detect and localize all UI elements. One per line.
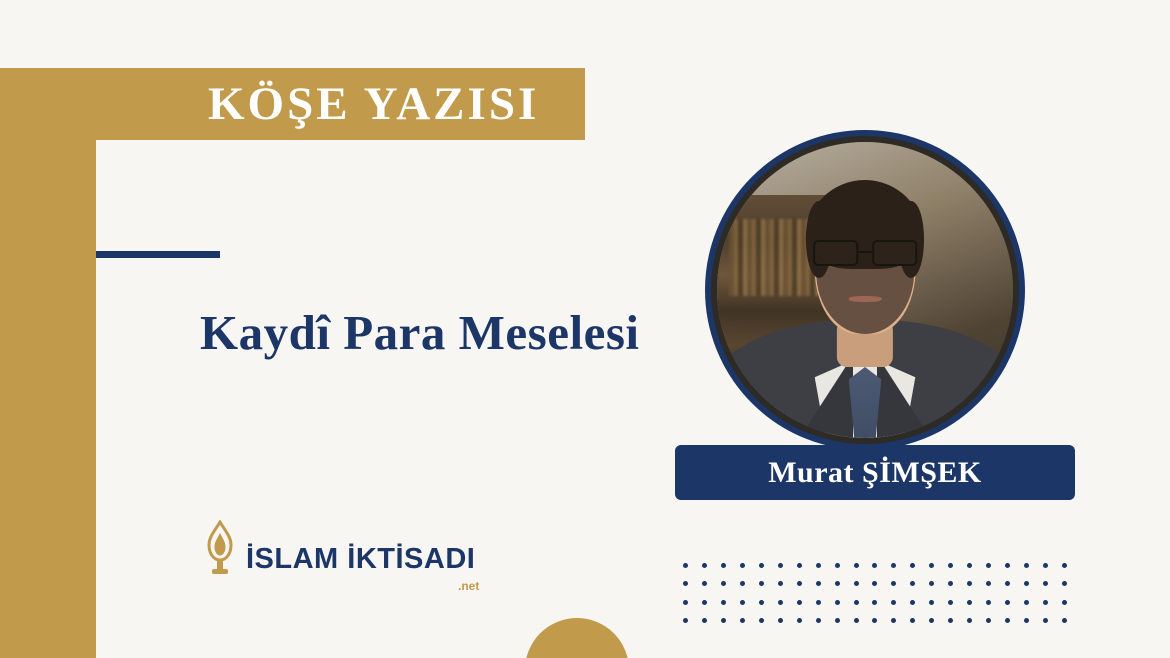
dot [721,563,726,568]
author-name: Murat ŞİMŞEK [768,456,982,490]
dot [797,581,802,586]
dot [778,581,783,586]
gold-band-notch [0,0,96,68]
dot [740,581,745,586]
dot [835,581,840,586]
dot [797,618,802,623]
dot [854,563,859,568]
dot [797,600,802,605]
logo-wordmark-wrap: İSLAM İKTİSADI .net [246,545,475,576]
dot [948,581,953,586]
dot [740,618,745,623]
dot [910,563,915,568]
dot [1062,581,1067,586]
dot-grid-decor [676,556,1074,630]
dot [854,600,859,605]
dot [929,600,934,605]
flame-lamp-icon [200,520,240,576]
dot [986,563,991,568]
dot [1024,600,1029,605]
author-avatar [705,130,1025,450]
author-photo [717,142,1013,438]
dot [778,563,783,568]
dot [683,563,688,568]
dot [929,581,934,586]
page-title: Kaydî Para Meselesi [200,300,640,366]
photo-glasses-bridge [858,251,873,254]
dot [891,581,896,586]
dot [967,600,972,605]
dot [702,618,707,623]
dot [1062,618,1067,623]
dot [835,618,840,623]
dot [967,618,972,623]
dot [683,600,688,605]
dot [702,563,707,568]
dot [910,600,915,605]
dot [721,618,726,623]
dot [1043,618,1048,623]
dot [872,618,877,623]
dot [948,600,953,605]
dot [759,618,764,623]
dot [835,563,840,568]
dot [816,600,821,605]
dot [702,600,707,605]
dot [683,618,688,623]
dot [816,618,821,623]
dot [910,581,915,586]
dot [835,600,840,605]
dot [1043,581,1048,586]
dot [929,563,934,568]
dot [1024,581,1029,586]
photo-necktie [849,367,882,438]
dot [778,618,783,623]
dot [948,618,953,623]
dot [740,600,745,605]
dot [872,563,877,568]
koseyazisi-banner: KÖŞE YAZISI Kaydî Para Meselesi İSLAM İK… [0,0,1170,658]
navy-divider-rule [96,251,220,258]
dot [778,600,783,605]
dot [702,581,707,586]
category-ribbon: KÖŞE YAZISI [96,68,585,140]
dot [683,581,688,586]
author-nameplate: Murat ŞİMŞEK [675,445,1075,500]
dot [1062,563,1067,568]
dot [1043,600,1048,605]
gold-decor-circle [525,618,629,658]
logo-wordmark: İSLAM İKTİSADI [246,545,475,574]
dot [797,563,802,568]
dot [759,600,764,605]
dot [1024,618,1029,623]
dot [740,563,745,568]
dot [854,581,859,586]
dot [891,600,896,605]
dot [854,618,859,623]
dot [891,618,896,623]
site-logo[interactable]: İSLAM İKTİSADI .net [200,520,475,576]
dot [816,581,821,586]
dot [816,563,821,568]
dot [1005,618,1010,623]
dot [910,618,915,623]
dot [721,600,726,605]
dot [872,600,877,605]
dot [1005,563,1010,568]
logo-tld: .net [458,579,479,593]
dot [986,600,991,605]
dot [967,563,972,568]
dot [1005,600,1010,605]
dot [1024,563,1029,568]
dot [891,563,896,568]
photo-glasses-lens-right [872,240,917,267]
dot [1043,563,1048,568]
category-label: KÖŞE YAZISI [96,77,539,131]
dot [872,581,877,586]
left-gold-band [0,0,96,658]
dot [986,581,991,586]
photo-glasses-lens-left [813,240,858,267]
dot [948,563,953,568]
dot [1062,600,1067,605]
dot [759,563,764,568]
dot [1005,581,1010,586]
dot [929,618,934,623]
photo-mouth [849,296,882,303]
dot [759,581,764,586]
photo-glasses-icon [813,240,917,267]
dot [986,618,991,623]
dot [721,581,726,586]
dot [967,581,972,586]
